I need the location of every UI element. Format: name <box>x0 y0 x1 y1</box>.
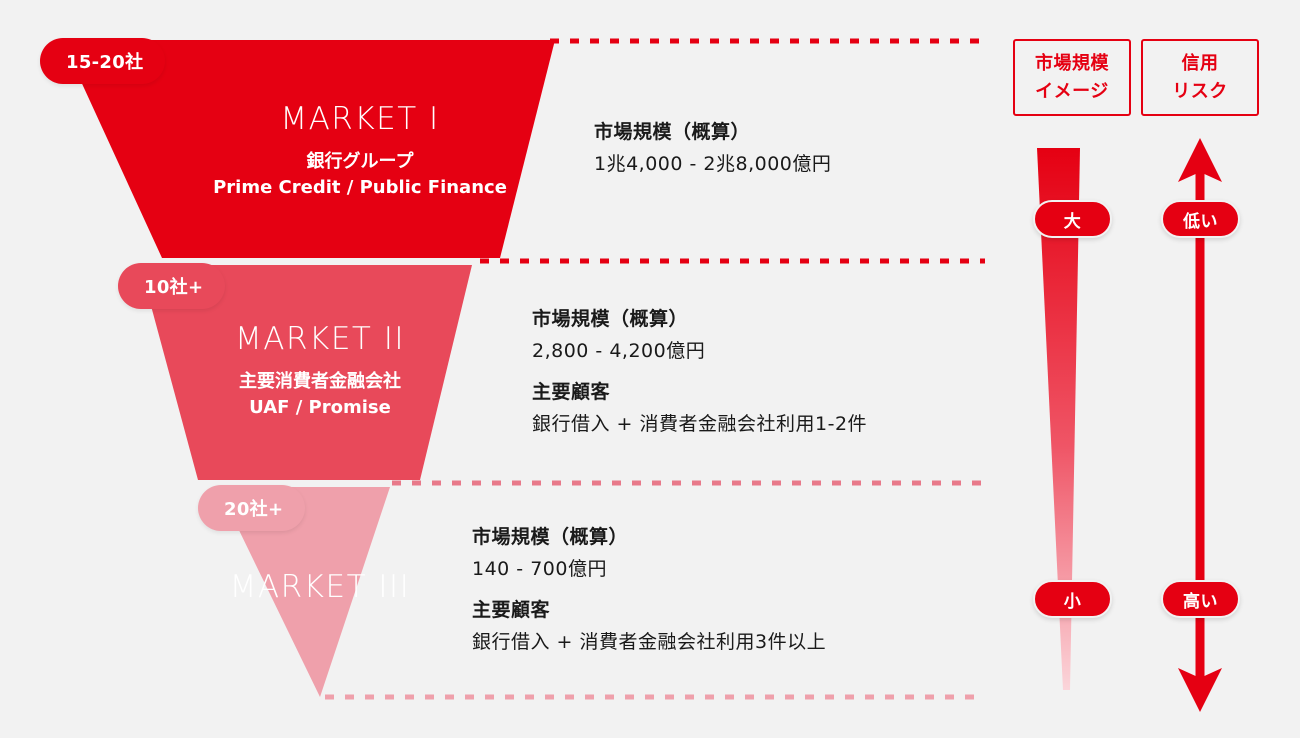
tier-2-detail-1-heading: 主要顧客 <box>532 376 867 408</box>
tier-2-details: 市場規模（概算） 2,800 - 4,200億円 主要顧客 銀行借入 + 消費者… <box>532 303 867 440</box>
market-size-bottom-badge: 小 <box>1033 580 1112 618</box>
funnel-tier-2-label-group: MARKET II 主要消費者金融会社 UAF / Promise <box>135 320 505 421</box>
funnel-tier-1-name: MARKET I <box>160 100 560 139</box>
funnel-tier-3-name: MARKET III <box>175 568 465 607</box>
legend-header-credit-risk-line2: リスク <box>1172 78 1228 106</box>
legend-header-credit-risk-line1: 信用 <box>1182 50 1219 78</box>
tier-2-detail-0-heading: 市場規模（概算） <box>532 303 867 335</box>
funnel-tier-1-sub-line1: 銀行グループ <box>160 149 560 175</box>
legend-header-market-size-line2: イメージ <box>1035 78 1109 106</box>
funnel-tier-3-label-group: MARKET III <box>175 568 465 607</box>
market-size-top-badge: 大 <box>1033 200 1112 238</box>
tier-1-details: 市場規模（概算） 1兆4,000 - 2兆8,000億円 <box>594 116 831 181</box>
legend-header-credit-risk: 信用 リスク <box>1141 39 1259 116</box>
tier-2-detail-1-body: 銀行借入 + 消費者金融会社利用1-2件 <box>532 408 867 440</box>
tier-3-detail-0-body: 140 - 700億円 <box>472 553 826 585</box>
funnel-tier-2-sub-line2: UAF / Promise <box>135 395 505 421</box>
tier-1-count-badge: 15-20社 <box>40 38 165 84</box>
tier-3-detail-0-heading: 市場規模（概算） <box>472 521 826 553</box>
funnel-tier-1-sub-line2: Prime Credit / Public Finance <box>160 175 560 201</box>
funnel-tier-2-sub-line1: 主要消費者金融会社 <box>135 369 505 395</box>
tier-1-detail-0-heading: 市場規模（概算） <box>594 116 831 148</box>
tier-2-count-badge: 10社+ <box>118 263 225 309</box>
infographic-canvas: MARKET I 銀行グループ Prime Credit / Public Fi… <box>0 0 1300 738</box>
tier-3-detail-1-body: 銀行借入 + 消費者金融会社利用3件以上 <box>472 626 826 658</box>
tier-1-detail-0-body: 1兆4,000 - 2兆8,000億円 <box>594 148 831 180</box>
tier-2-detail-0-body: 2,800 - 4,200億円 <box>532 335 867 367</box>
legend-header-market-size-line1: 市場規模 <box>1035 50 1109 78</box>
funnel-tier-2-name: MARKET II <box>135 320 505 359</box>
legend-header-market-size: 市場規模 イメージ <box>1013 39 1131 116</box>
tier-3-count-badge: 20社+ <box>198 485 305 531</box>
tier-3-details: 市場規模（概算） 140 - 700億円 主要顧客 銀行借入 + 消費者金融会社… <box>472 521 826 658</box>
credit-risk-top-badge: 低い <box>1161 200 1240 238</box>
tier-3-detail-1-heading: 主要顧客 <box>472 594 826 626</box>
funnel-tier-1-label-group: MARKET I 銀行グループ Prime Credit / Public Fi… <box>160 100 560 201</box>
credit-risk-bottom-badge: 高い <box>1161 580 1240 618</box>
